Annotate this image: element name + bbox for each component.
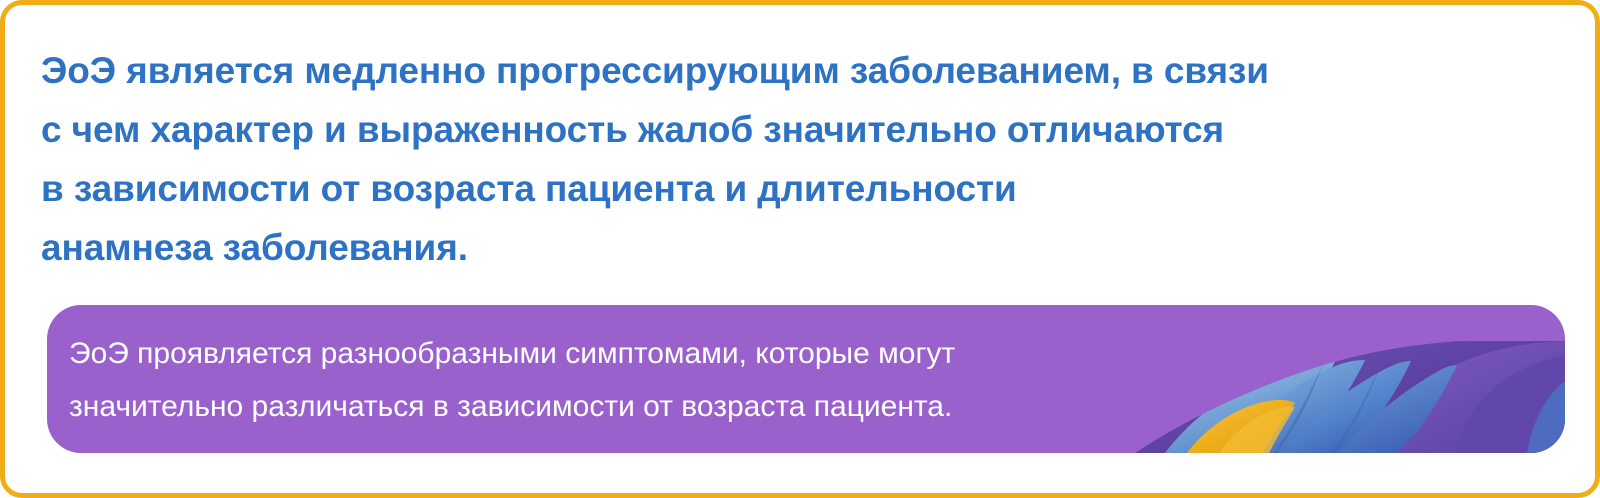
callout-card: ЭоЭ проявляется разнообразными симптомам… bbox=[47, 305, 1565, 453]
page-title: ЭоЭ является медленно прогрессирующим за… bbox=[41, 41, 1371, 277]
slide-frame: ЭоЭ является медленно прогрессирующим за… bbox=[0, 0, 1600, 498]
callout-text: ЭоЭ проявляется разнообразными симптомам… bbox=[69, 327, 1229, 433]
